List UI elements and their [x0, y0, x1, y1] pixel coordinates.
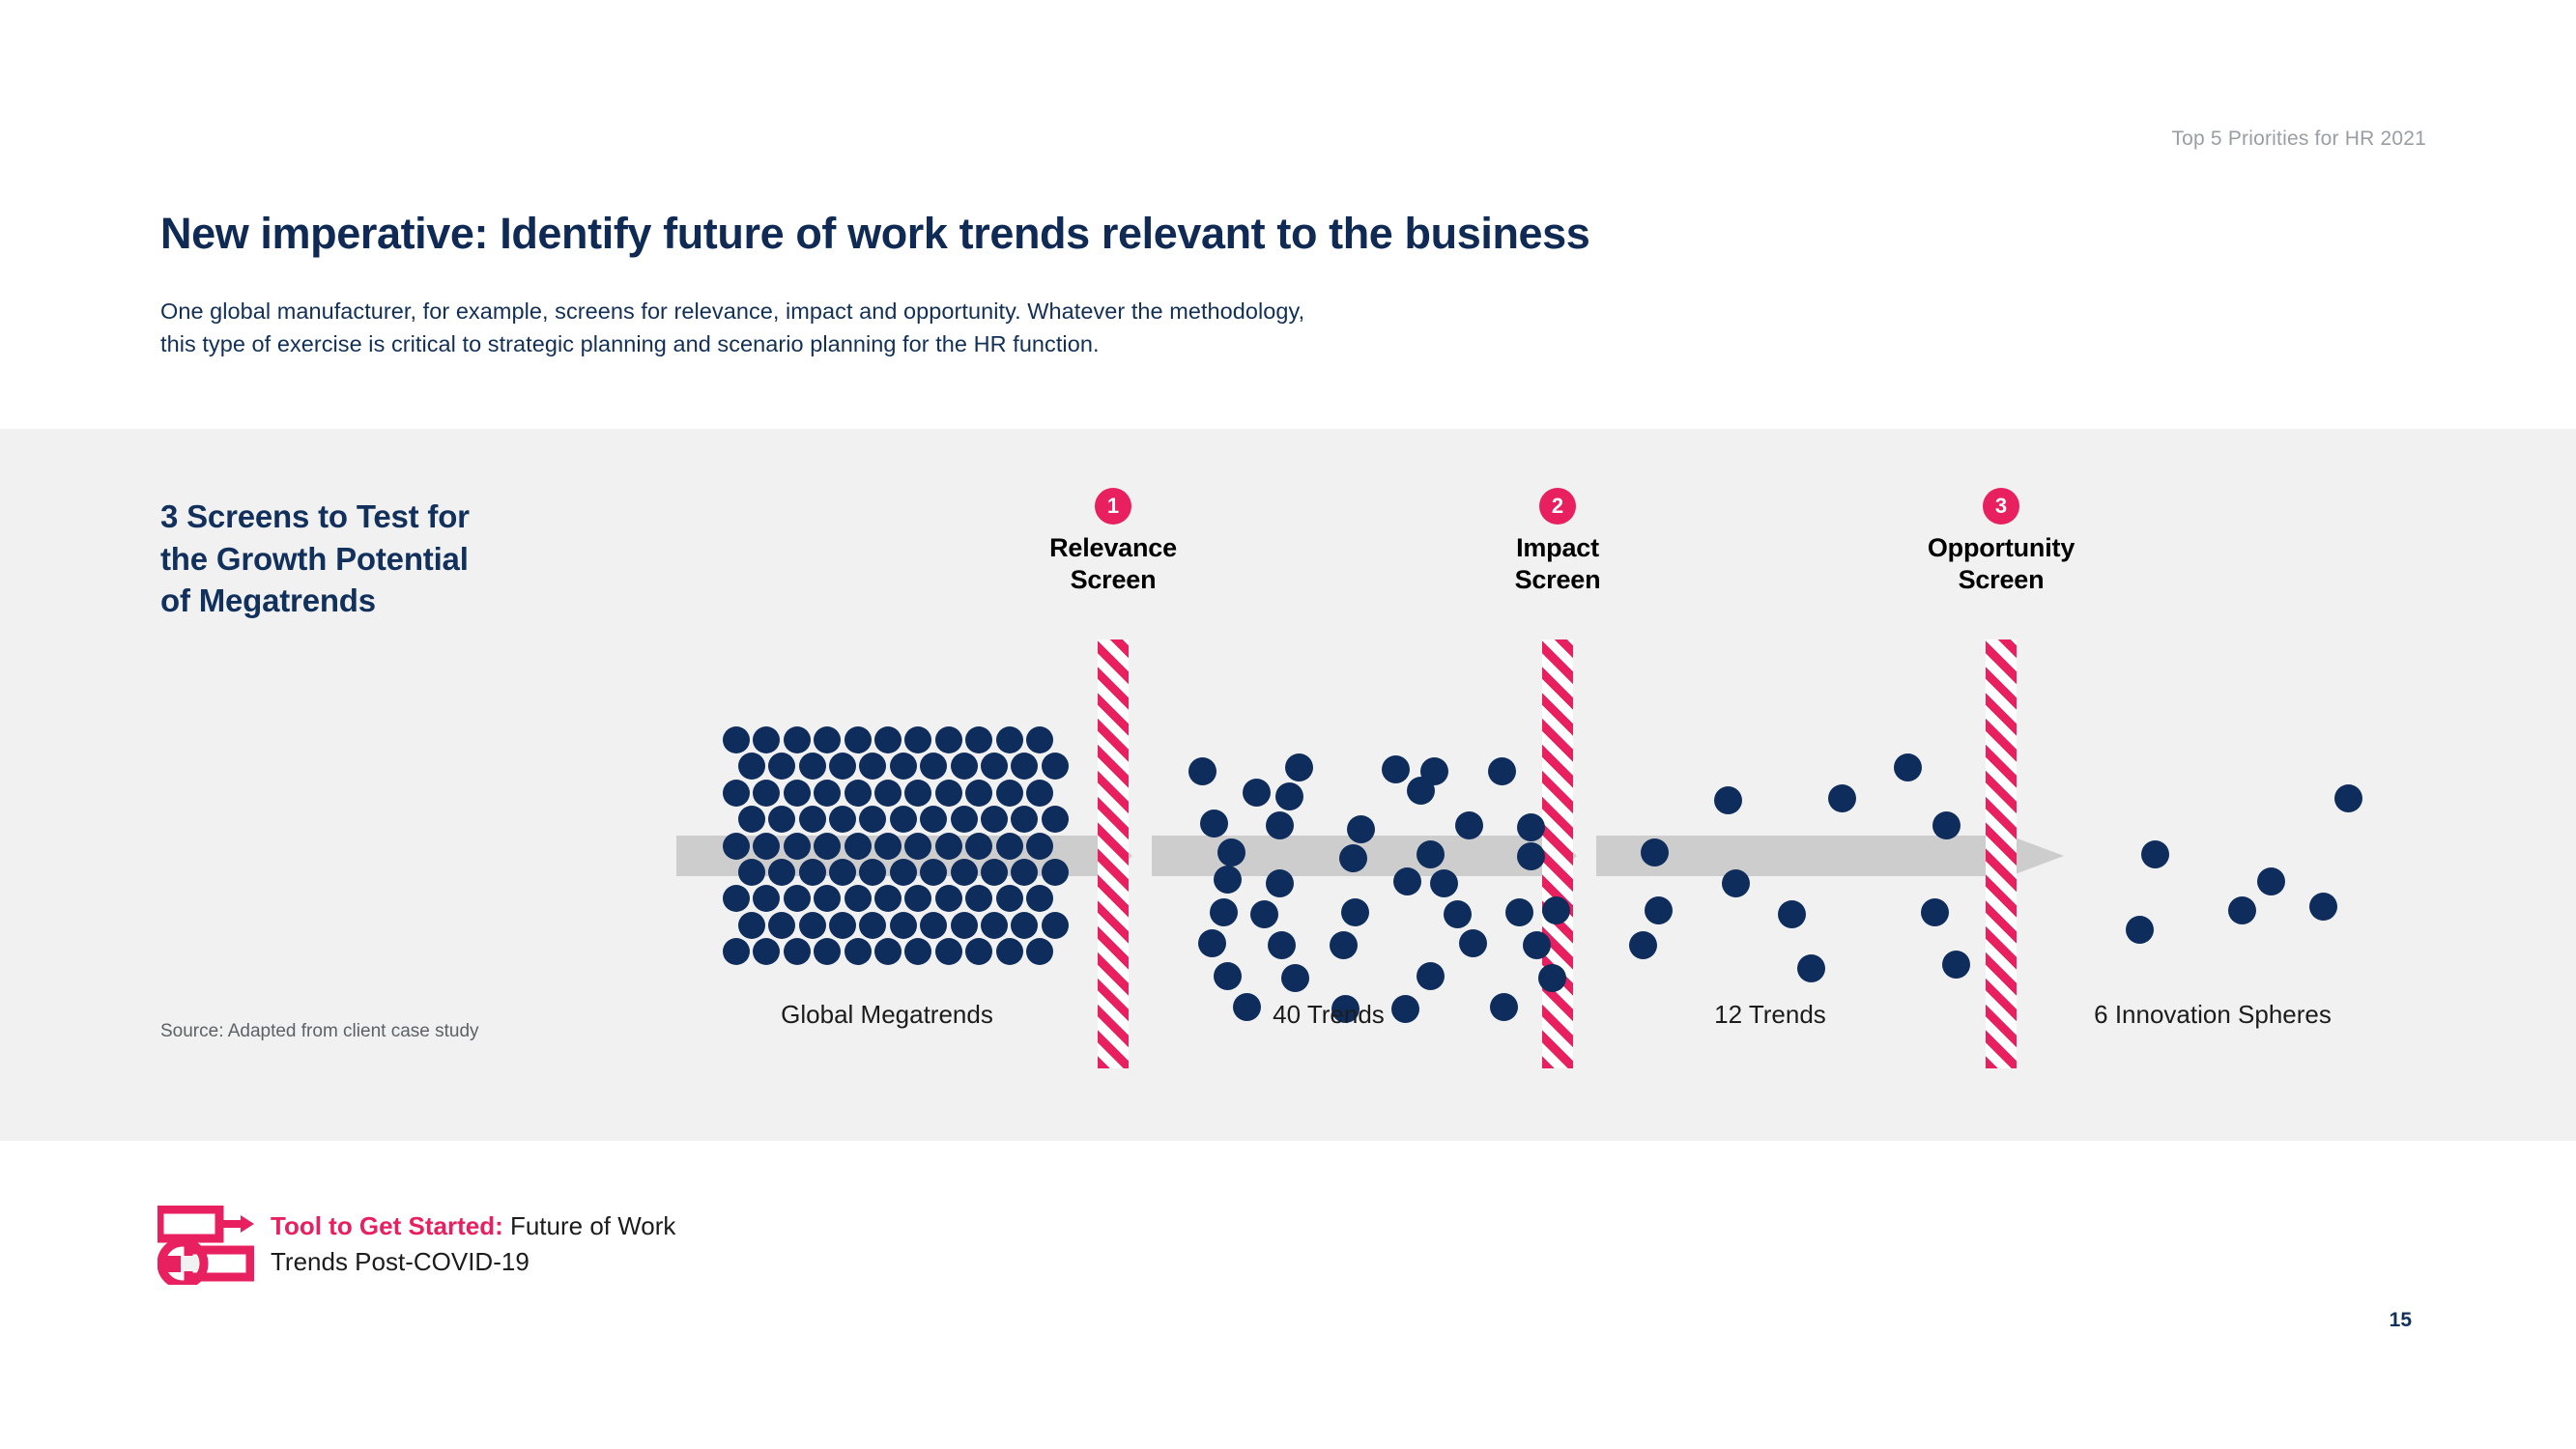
trend-dot — [1214, 962, 1242, 990]
tool-callout-rest: Future of Work — [503, 1211, 676, 1240]
trend-dot — [1026, 780, 1053, 807]
trend-dot — [1042, 912, 1069, 939]
diagram-heading-line-2: the Growth Potential — [160, 538, 470, 581]
trend-dot — [965, 938, 992, 965]
trend-dot — [738, 806, 765, 833]
trend-dot — [1250, 900, 1278, 928]
trend-dot — [1330, 931, 1358, 959]
dot-cluster-12-trends — [1604, 726, 1971, 978]
zone-caption-3: 12 Trends — [1714, 1000, 1826, 1030]
trend-dot — [996, 726, 1023, 753]
trend-dot — [844, 885, 872, 912]
trend-dot — [935, 726, 962, 753]
screen-badge-2: 2 — [1539, 488, 1576, 525]
diagram-heading-line-3: of Megatrends — [160, 580, 470, 622]
trend-dot — [1275, 782, 1303, 810]
trend-dot — [738, 912, 765, 939]
trend-dot — [723, 780, 750, 807]
screen-marker-2: 2 Impact Screen — [1413, 488, 1703, 596]
trend-dot — [996, 938, 1023, 965]
trend-dot — [753, 833, 780, 860]
trend-dot — [1921, 898, 1949, 926]
trend-dot — [1942, 951, 1970, 979]
trend-dot — [844, 780, 872, 807]
screen-label-2: Impact Screen — [1413, 532, 1703, 596]
trend-dot — [904, 780, 931, 807]
trend-dot — [1455, 811, 1483, 839]
screen-label-3-line-2: Screen — [1856, 564, 2146, 596]
trend-dot — [784, 833, 811, 860]
trend-dot — [844, 938, 872, 965]
trend-dot — [1011, 806, 1038, 833]
trend-dot — [1828, 784, 1856, 812]
trend-dot — [1407, 777, 1435, 805]
trend-dot — [1645, 896, 1673, 924]
trend-dot — [2257, 867, 2285, 895]
trend-dot — [1026, 726, 1053, 753]
trend-dot — [1243, 779, 1271, 807]
subtitle-line-1: One global manufacturer, for example, sc… — [160, 295, 1304, 327]
screen-marker-3: 3 Opportunity Screen — [1856, 488, 2146, 596]
diagram-heading: 3 Screens to Test for the Growth Potenti… — [160, 496, 470, 622]
trend-dot — [1198, 929, 1226, 957]
trend-dot — [799, 859, 826, 886]
trend-dot — [753, 938, 780, 965]
trend-dot — [874, 938, 902, 965]
trend-dot — [981, 806, 1008, 833]
trend-dot — [935, 885, 962, 912]
zone-caption-2: 40 Trends — [1273, 1000, 1385, 1030]
trend-dot — [1538, 964, 1566, 992]
trend-dot — [874, 780, 902, 807]
tool-callout-lead: Tool to Get Started: — [271, 1211, 503, 1240]
trend-dot — [799, 806, 826, 833]
trend-dot — [874, 833, 902, 860]
diagram-heading-line-1: 3 Screens to Test for — [160, 496, 470, 538]
trend-dot — [814, 885, 841, 912]
trend-dot — [904, 938, 931, 965]
screen-barrier-opportunity — [1986, 639, 2017, 1068]
trend-dot — [1339, 844, 1367, 872]
trend-dot — [981, 912, 1008, 939]
screen-label-1-line-1: Relevance — [968, 532, 1258, 564]
trend-dot — [768, 912, 795, 939]
screen-label-3-line-1: Opportunity — [1856, 532, 2146, 564]
trend-dot — [738, 753, 765, 780]
trend-dot — [890, 806, 917, 833]
trend-dot — [996, 833, 1023, 860]
trend-dot — [1417, 840, 1445, 868]
trend-dot — [1347, 815, 1375, 843]
trend-dot — [859, 806, 886, 833]
page-title: New imperative: Identify future of work … — [160, 209, 1589, 259]
trend-dot — [1523, 931, 1551, 959]
trend-dot — [1391, 995, 1419, 1023]
trend-dot — [859, 912, 886, 939]
trend-dot — [1217, 838, 1245, 867]
trend-dot — [1517, 842, 1545, 870]
trend-dot — [904, 726, 931, 753]
trend-dot — [829, 753, 856, 780]
screen-badge-3: 3 — [1983, 488, 2019, 525]
trend-dot — [2141, 840, 2169, 868]
trend-dot — [1341, 898, 1369, 926]
trend-dot — [859, 753, 886, 780]
trend-dot — [723, 885, 750, 912]
tool-callout-line-2: Trends Post-COVID-19 — [271, 1244, 675, 1280]
trend-dot — [1281, 964, 1309, 992]
trend-dot — [1266, 811, 1294, 839]
screen-label-1: Relevance Screen — [968, 532, 1258, 596]
trend-dot — [1026, 885, 1053, 912]
page-subtitle: One global manufacturer, for example, sc… — [160, 295, 1304, 360]
trend-dot — [784, 780, 811, 807]
dot-cluster-global-megatrends — [723, 726, 1056, 973]
trend-dot — [951, 753, 978, 780]
trend-dot — [1188, 757, 1216, 785]
trend-dot — [2126, 916, 2154, 944]
trend-dot — [965, 726, 992, 753]
trend-dot — [1042, 859, 1069, 886]
trend-dot — [951, 859, 978, 886]
trend-dot — [814, 938, 841, 965]
trend-dot — [1011, 859, 1038, 886]
trend-dot — [1285, 753, 1313, 781]
trend-dot — [1200, 810, 1228, 838]
trend-dot — [723, 726, 750, 753]
trend-dot — [1026, 833, 1053, 860]
trend-dot — [1042, 753, 1069, 780]
trend-dot — [768, 753, 795, 780]
trend-dot — [951, 806, 978, 833]
trend-dot — [1042, 806, 1069, 833]
trend-dot — [723, 938, 750, 965]
subtitle-line-2: this type of exercise is critical to str… — [160, 327, 1304, 360]
trend-dot — [920, 859, 947, 886]
trend-dot — [965, 833, 992, 860]
trend-dot — [1268, 931, 1296, 959]
trend-dot — [935, 780, 962, 807]
trend-dot — [1488, 757, 1516, 785]
trend-dot — [784, 938, 811, 965]
trend-dot — [768, 859, 795, 886]
trend-dot — [920, 753, 947, 780]
trend-dot — [1011, 753, 1038, 780]
trend-dot — [920, 806, 947, 833]
trend-dot — [1393, 867, 1421, 895]
zone-caption-4: 6 Innovation Spheres — [2094, 1000, 2332, 1030]
deck-kicker: Top 5 Priorities for HR 2021 — [2171, 128, 2426, 151]
trend-dot — [874, 885, 902, 912]
trend-dot — [951, 912, 978, 939]
trend-dot — [784, 726, 811, 753]
trend-dot — [814, 780, 841, 807]
trend-dot — [784, 885, 811, 912]
screen-label-1-line-2: Screen — [968, 564, 1258, 596]
trend-dot — [814, 726, 841, 753]
trend-dot — [981, 753, 1008, 780]
trend-dot — [1722, 869, 1750, 897]
dot-cluster-40-trends — [1158, 726, 1563, 978]
trend-dot — [844, 833, 872, 860]
page-number: 15 — [2390, 1309, 2412, 1332]
trend-dot — [2334, 784, 2362, 812]
trend-dot — [859, 859, 886, 886]
trend-dot — [1266, 869, 1294, 897]
screen-barrier-relevance — [1098, 639, 1129, 1068]
trend-dot — [890, 753, 917, 780]
trend-dot — [965, 780, 992, 807]
trend-dot — [738, 859, 765, 886]
tools-icon — [157, 1206, 254, 1290]
trend-dot — [935, 938, 962, 965]
trend-dot — [996, 780, 1023, 807]
trend-dot — [1517, 813, 1545, 841]
trend-dot — [1026, 938, 1053, 965]
trend-dot — [753, 885, 780, 912]
trend-dot — [768, 806, 795, 833]
trend-dot — [1894, 753, 1922, 781]
trend-dot — [1797, 954, 1825, 982]
trend-dot — [1210, 898, 1238, 926]
trend-dot — [874, 726, 902, 753]
trend-dot — [1629, 931, 1657, 959]
trend-dot — [2228, 896, 2256, 924]
trend-dot — [965, 885, 992, 912]
screen-label-2-line-2: Screen — [1413, 564, 1703, 596]
trend-dot — [1417, 962, 1445, 990]
trend-dot — [753, 726, 780, 753]
trend-dot — [1233, 993, 1261, 1021]
trend-dot — [799, 912, 826, 939]
trend-dot — [981, 859, 1008, 886]
trend-dot — [1542, 896, 1570, 924]
screen-label-2-line-1: Impact — [1413, 532, 1703, 564]
tool-callout-line-1: Tool to Get Started: Future of Work — [271, 1208, 675, 1244]
trend-dot — [1778, 900, 1806, 928]
trend-dot — [1214, 866, 1242, 894]
tool-callout[interactable]: Tool to Get Started: Future of Work Tren… — [271, 1208, 675, 1280]
trend-dot — [935, 833, 962, 860]
trend-dot — [829, 912, 856, 939]
trend-dot — [829, 859, 856, 886]
trend-dot — [799, 753, 826, 780]
zone-caption-1: Global Megatrends — [781, 1000, 993, 1030]
screen-badge-1: 1 — [1095, 488, 1131, 525]
trend-dot — [996, 885, 1023, 912]
trend-dot — [890, 859, 917, 886]
trend-dot — [1641, 838, 1669, 867]
trend-dot — [1444, 900, 1472, 928]
trend-dot — [753, 780, 780, 807]
trend-dot — [1490, 993, 1518, 1021]
trend-dot — [1932, 811, 1961, 839]
trend-dot — [844, 726, 872, 753]
screen-label-3: Opportunity Screen — [1856, 532, 2146, 596]
trend-dot — [2309, 893, 2337, 921]
trend-dot — [1382, 755, 1410, 783]
trend-dot — [829, 806, 856, 833]
trend-dot — [1505, 898, 1533, 926]
trend-dot — [723, 833, 750, 860]
trend-dot — [904, 885, 931, 912]
trend-dot — [814, 833, 841, 860]
trend-dot — [920, 912, 947, 939]
trend-dot — [904, 833, 931, 860]
trend-dot — [890, 912, 917, 939]
source-note: Source: Adapted from client case study — [160, 1021, 479, 1042]
dot-cluster-innovation-spheres — [2077, 726, 2377, 978]
trend-dot — [1459, 929, 1487, 957]
trend-dot — [1011, 912, 1038, 939]
trend-dot — [1430, 869, 1458, 897]
screen-marker-1: 1 Relevance Screen — [968, 488, 1258, 596]
trend-dot — [1714, 786, 1742, 814]
